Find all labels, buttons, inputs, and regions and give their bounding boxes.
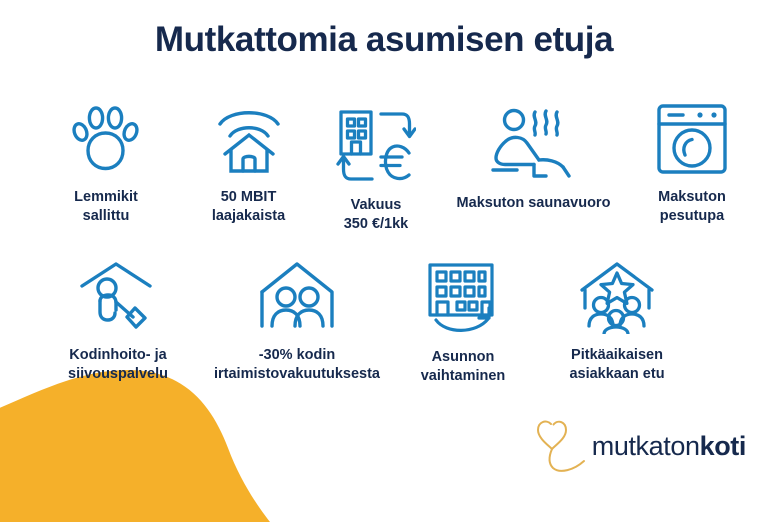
heart-swoosh-icon	[534, 418, 586, 474]
benefit-label: Vakuus 350 €/1kk	[344, 196, 409, 233]
benefit-label: Maksuton pesutupa	[658, 188, 726, 225]
benefits-row-1: Lemmikit sallittu 50 MBIT laajakaista	[0, 100, 768, 233]
logo-name-light: mutkaton	[592, 431, 700, 461]
logo-name-bold: koti	[700, 431, 746, 461]
page-title: Mutkattomia asumisen etuja	[0, 20, 768, 60]
benefit-item-pets: Lemmikit sallittu	[26, 100, 186, 233]
benefit-item-deposit: Vakuus 350 €/1kk	[311, 100, 441, 233]
benefit-item-cleaning-service: Kodinhoito- ja siivouspalvelu	[34, 258, 202, 385]
logo-wordmark: mutkatonkoti	[592, 433, 746, 460]
brand-logo[interactable]: mutkatonkoti	[534, 418, 746, 474]
house-star-people-icon	[577, 258, 657, 336]
washing-machine-icon	[655, 100, 729, 178]
benefits-row-2: Kodinhoito- ja siivouspalvelu -30% kodin…	[0, 258, 768, 385]
benefit-label: -30% kodin irtaimistovakuutuksesta	[214, 346, 380, 383]
benefit-item-broadband: 50 MBIT laajakaista	[186, 100, 311, 233]
decorative-yellow-blob	[0, 362, 290, 522]
benefit-item-laundry: Maksuton pesutupa	[626, 100, 758, 233]
apartment-swap-arrow-icon	[424, 260, 502, 338]
benefit-label: Pitkäaikaisen asiakkaan etu	[569, 346, 664, 383]
benefit-item-sauna: Maksuton saunavuoro	[441, 100, 626, 233]
benefit-label: 50 MBIT laajakaista	[212, 188, 285, 225]
benefit-label: Kodinhoito- ja siivouspalvelu	[68, 346, 168, 383]
sauna-person-steam-icon	[491, 106, 577, 184]
building-euro-exchange-icon	[336, 108, 416, 186]
benefit-item-home-insurance: -30% kodin irtaimistovakuutuksesta	[202, 258, 392, 385]
benefit-label: Asunnon vaihtaminen	[421, 348, 506, 385]
benefit-label: Maksuton saunavuoro	[457, 194, 611, 213]
benefit-label: Lemmikit sallittu	[74, 188, 138, 225]
benefit-item-apartment-swap: Asunnon vaihtaminen	[392, 258, 534, 385]
house-cleaning-person-icon	[78, 258, 158, 336]
paw-print-icon	[71, 100, 141, 178]
benefit-item-loyalty: Pitkäaikaisen asiakkaan etu	[534, 258, 700, 385]
wifi-house-icon	[212, 100, 286, 178]
house-two-people-icon	[257, 258, 337, 336]
